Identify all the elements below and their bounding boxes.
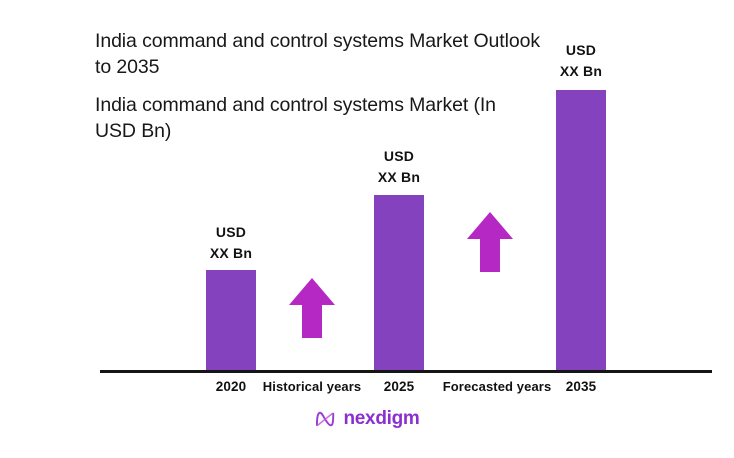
bar-label-2035-top: USD — [521, 40, 641, 61]
growth-arrow-historical — [288, 277, 336, 339]
up-arrow-icon — [466, 211, 514, 273]
bar-label-2020-bottom: XX Bn — [171, 243, 291, 264]
bar-label-2025-bottom: XX Bn — [339, 167, 459, 188]
growth-arrow-forecast — [466, 211, 514, 273]
bar-label-2020: USD XX Bn — [171, 222, 291, 264]
bar-2025 — [374, 195, 424, 371]
nexdigm-mark-icon — [314, 408, 336, 430]
bar-label-2025-top: USD — [339, 146, 459, 167]
plot-area: USD XX Bn USD XX Bn USD XX Bn — [0, 0, 734, 458]
x-tick-2035: 2035 — [531, 379, 631, 394]
bar-label-2025: USD XX Bn — [339, 146, 459, 188]
bar-label-2035-bottom: XX Bn — [521, 61, 641, 82]
bar-2020 — [206, 270, 256, 371]
bar-label-2035: USD XX Bn — [521, 40, 641, 82]
logo-text: nexdigm — [343, 408, 419, 430]
brand-logo: nexdigm — [0, 408, 734, 430]
bar-label-2020-top: USD — [171, 222, 291, 243]
up-arrow-icon — [288, 277, 336, 339]
bar-2035 — [556, 90, 606, 371]
chart-canvas: India command and control systems Market… — [0, 0, 734, 458]
x-axis-line — [100, 370, 712, 373]
